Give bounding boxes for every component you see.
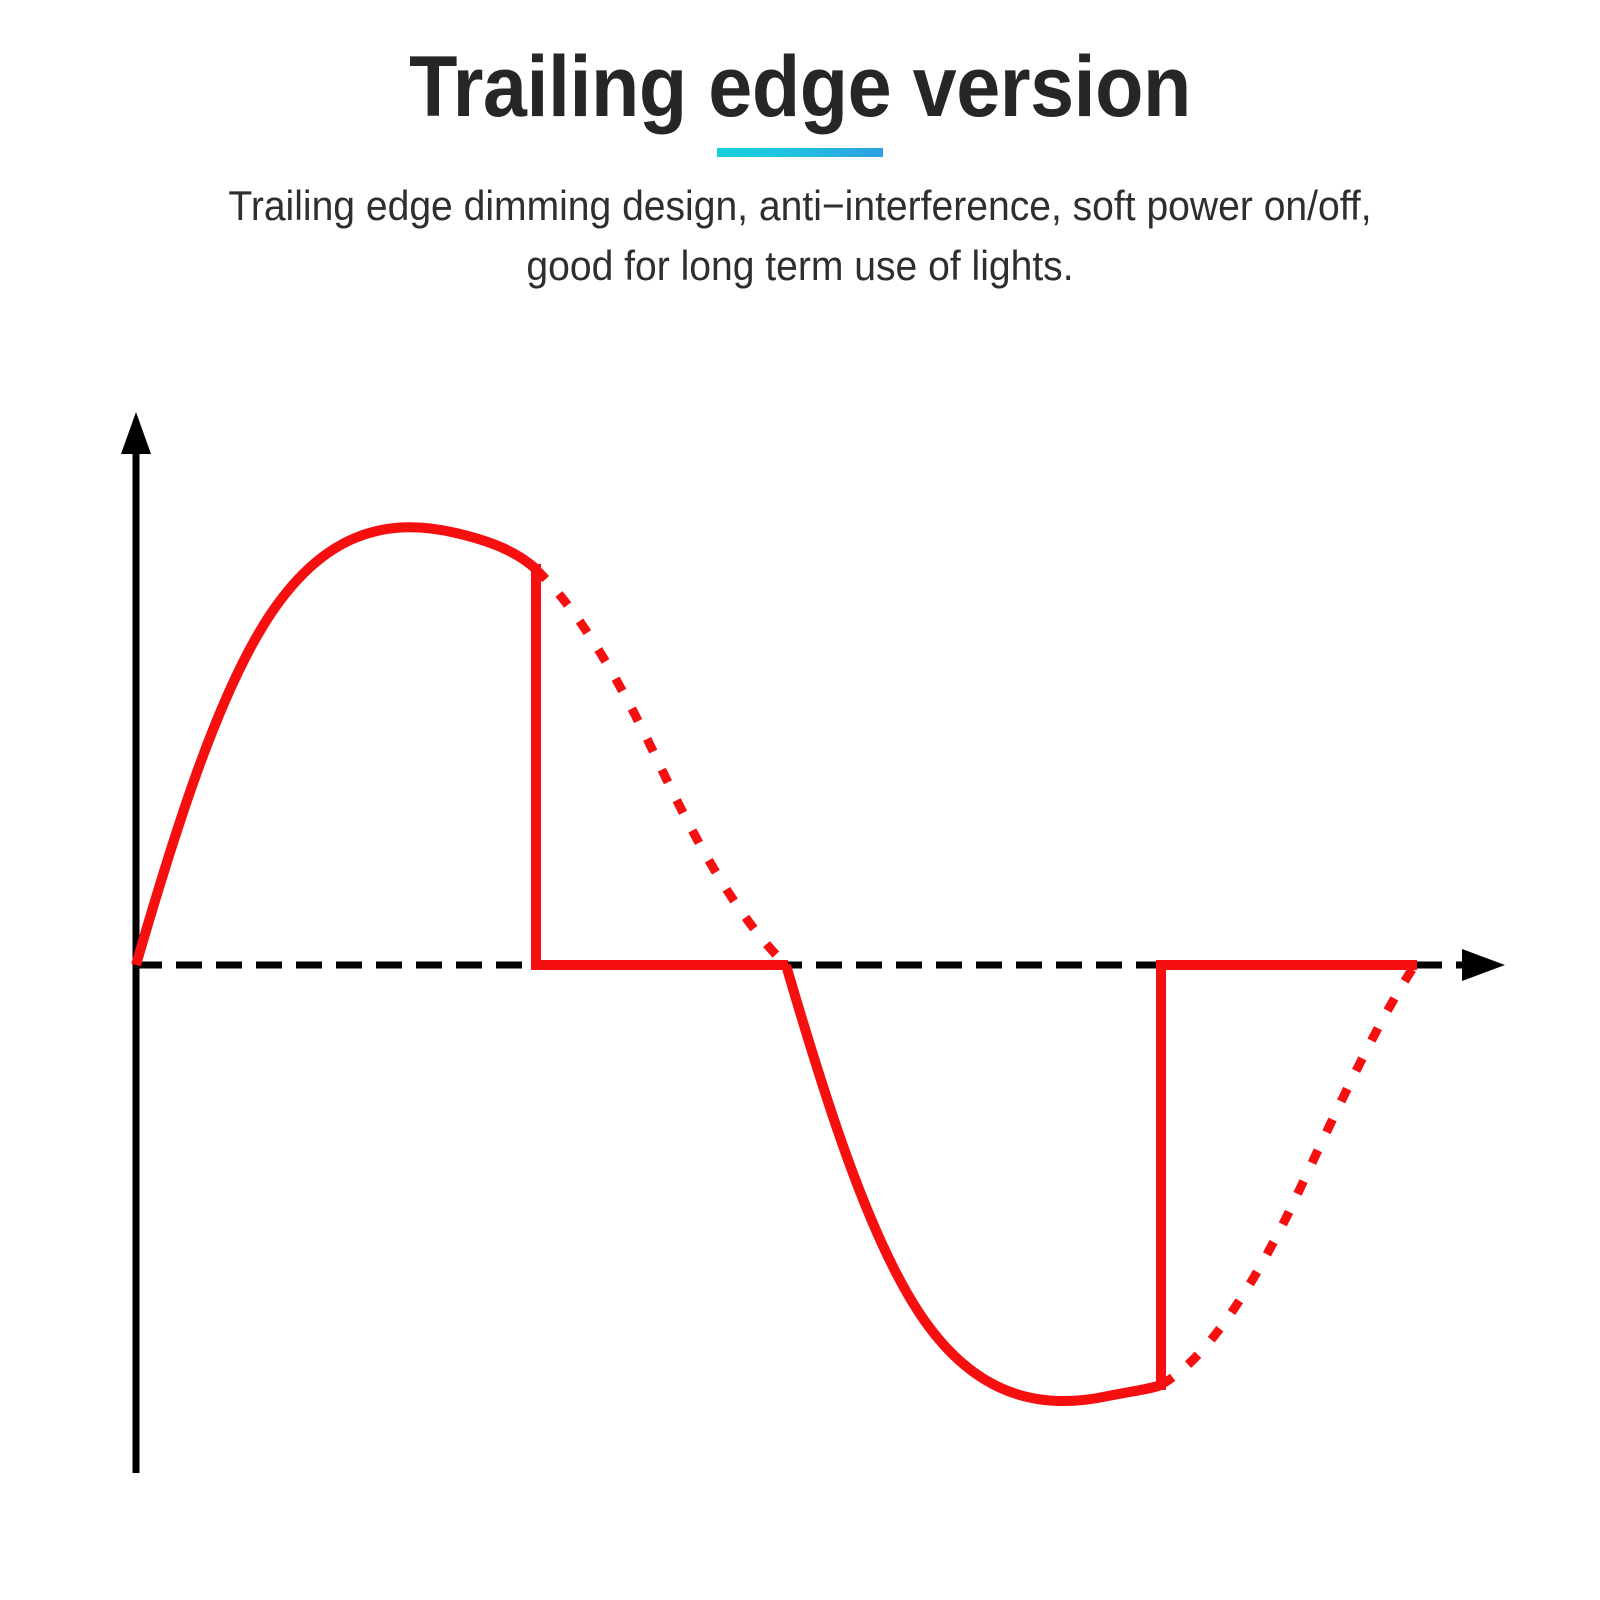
subtitle-line-1: Trailing edge dimming design, anti−inter… — [56, 176, 1544, 236]
suppressed-waveform-group — [536, 569, 1415, 1385]
chart-axes — [121, 412, 1505, 1473]
waveform-svg — [0, 350, 1600, 1600]
negative-conduction-curve — [786, 965, 1161, 1401]
x-axis-arrowhead — [1462, 949, 1505, 981]
header: Trailing edge version Trailing edge dimm… — [0, 0, 1600, 296]
page-root: Trailing edge version Trailing edge dimm… — [0, 0, 1600, 1600]
y-axis-arrowhead — [121, 412, 151, 454]
positive-conduction-curve — [136, 527, 536, 965]
accent-bar — [717, 148, 883, 157]
page-title: Trailing edge version — [64, 0, 1536, 132]
suppressed-negative-segment — [1161, 965, 1415, 1385]
conducting-waveform-group — [136, 527, 1417, 1401]
accent-bar-container — [0, 146, 1600, 158]
suppressed-positive-segment — [536, 569, 786, 965]
page-subtitle: Trailing edge dimming design, anti−inter… — [56, 158, 1544, 295]
subtitle-line-2: good for long term use of lights. — [56, 236, 1544, 296]
waveform-chart — [0, 350, 1600, 1600]
